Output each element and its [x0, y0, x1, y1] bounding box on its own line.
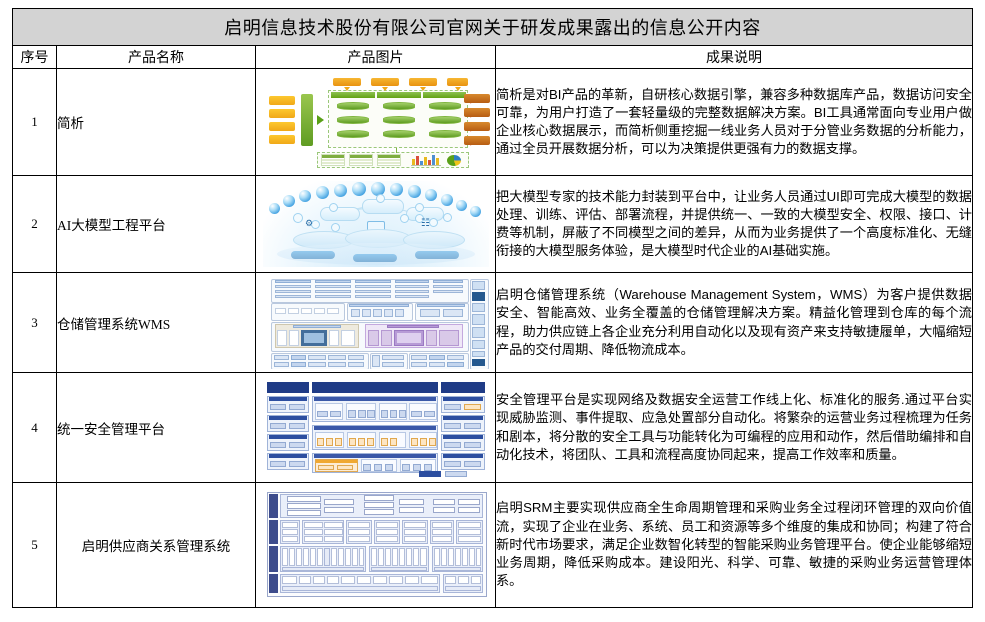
document-page: 启明信息技术股份有限公司官网关于研发成果露出的信息公开内容 序号 产品名称 产品… — [0, 0, 985, 622]
table-header-row: 序号 产品名称 产品图片 成果说明 — [13, 46, 973, 69]
ai-large-model-platform-diagram: ⚙ ☷ — [263, 181, 489, 267]
product-name: AI大模型工程平台 — [57, 176, 256, 273]
row-index: 1 — [13, 69, 57, 176]
row-index: 4 — [13, 373, 57, 483]
row-index: 2 — [13, 176, 57, 273]
table-row: 3 仓储管理系统WMS — [13, 273, 973, 373]
product-name: 启明供应商关系管理系统 — [57, 483, 256, 608]
product-name: 简析 — [57, 69, 256, 176]
page-title: 启明信息技术股份有限公司官网关于研发成果露出的信息公开内容 — [13, 9, 973, 46]
product-name: 统一安全管理平台 — [57, 373, 256, 483]
table-row: 1 简析 — [13, 69, 973, 176]
srm-architecture-diagram — [263, 490, 489, 600]
column-header-img: 产品图片 — [256, 46, 496, 69]
row-index: 5 — [13, 483, 57, 608]
security-platform-diagram — [263, 379, 489, 477]
product-description: 简析是对BI产品的革新，自研核心数据引擎，兼容多种数据库产品，数据访问安全可靠，… — [496, 69, 973, 176]
table-row: 5 启明供应商关系管理系统 — [13, 483, 973, 608]
table-row: 2 AI大模型工程平台 — [13, 176, 973, 273]
product-image-cell — [256, 373, 496, 483]
bi-architecture-diagram — [261, 76, 491, 168]
column-header-no: 序号 — [13, 46, 57, 69]
public-disclosure-table: 启明信息技术股份有限公司官网关于研发成果露出的信息公开内容 序号 产品名称 产品… — [12, 8, 973, 608]
product-image-cell — [256, 483, 496, 608]
wms-architecture-diagram — [263, 277, 489, 369]
column-header-name: 产品名称 — [57, 46, 256, 69]
product-image-cell — [256, 69, 496, 176]
product-description: 安全管理平台是实现网络及数据安全运营工作线上化、标准化的服务.通过平台实现威胁监… — [496, 373, 973, 483]
product-description: 启明SRM主要实现供应商全生命周期管理和采购业务全过程闭环管理的双向价值流，实现… — [496, 483, 973, 608]
table-title-row: 启明信息技术股份有限公司官网关于研发成果露出的信息公开内容 — [13, 9, 973, 46]
product-description: 把大模型专家的技术能力封装到平台中，让业务人员通过UI即可完成大模型的数据处理、… — [496, 176, 973, 273]
product-image-cell — [256, 273, 496, 373]
column-header-desc: 成果说明 — [496, 46, 973, 69]
row-index: 3 — [13, 273, 57, 373]
table-row: 4 统一安全管理平台 — [13, 373, 973, 483]
product-description: 启明仓储管理系统（Warehouse Management System，WMS… — [496, 273, 973, 373]
product-image-cell: ⚙ ☷ — [256, 176, 496, 273]
product-name: 仓储管理系统WMS — [57, 273, 256, 373]
